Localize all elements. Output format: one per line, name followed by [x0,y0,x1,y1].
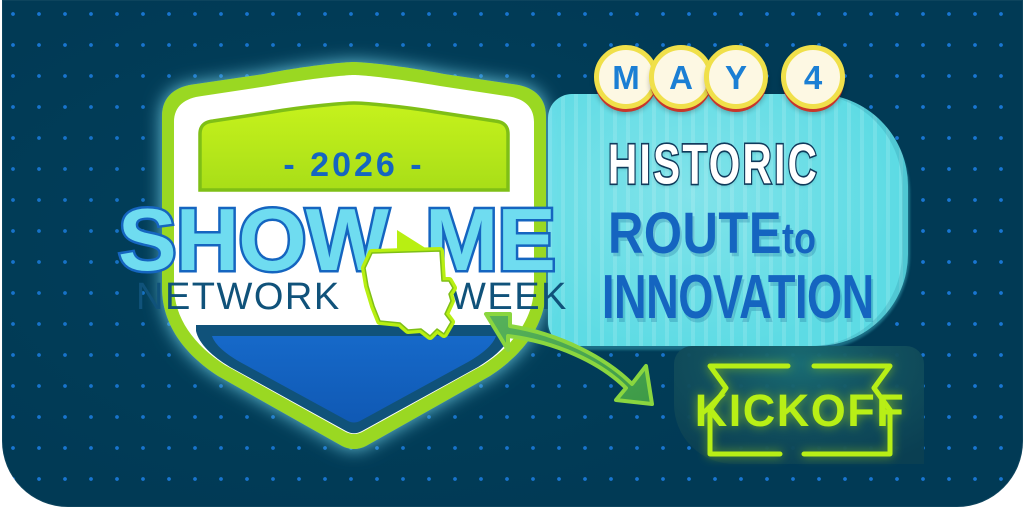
headline-route-word: ROUTE [608,201,782,266]
date-number-bubble-4: 4 [781,45,845,109]
shield-year-label: - 2026 - [283,146,424,184]
curved-double-arrow-icon [462,300,694,416]
headline-to-word: to [782,213,816,262]
poster-canvas: HISTORIC ROUTEto INNOVATION M A Y 4 [0,0,1024,512]
date-letter-bubble-y: Y [704,45,768,109]
headline-line-route-to: ROUTEto [608,206,908,262]
headline-line-historic: HISTORIC [608,140,890,192]
missouri-state-outline-icon [365,251,453,336]
shield-title-show: SHOW [118,190,389,289]
kickoff-label: KICKOFF [695,385,905,436]
headline-block: HISTORIC ROUTEto INNOVATION [608,140,908,313]
shield-subtitle-network: NETWORK [136,276,341,318]
date-badge-may-4: M A Y 4 [594,44,836,110]
kickoff-banner: KICKOFF [684,358,916,462]
